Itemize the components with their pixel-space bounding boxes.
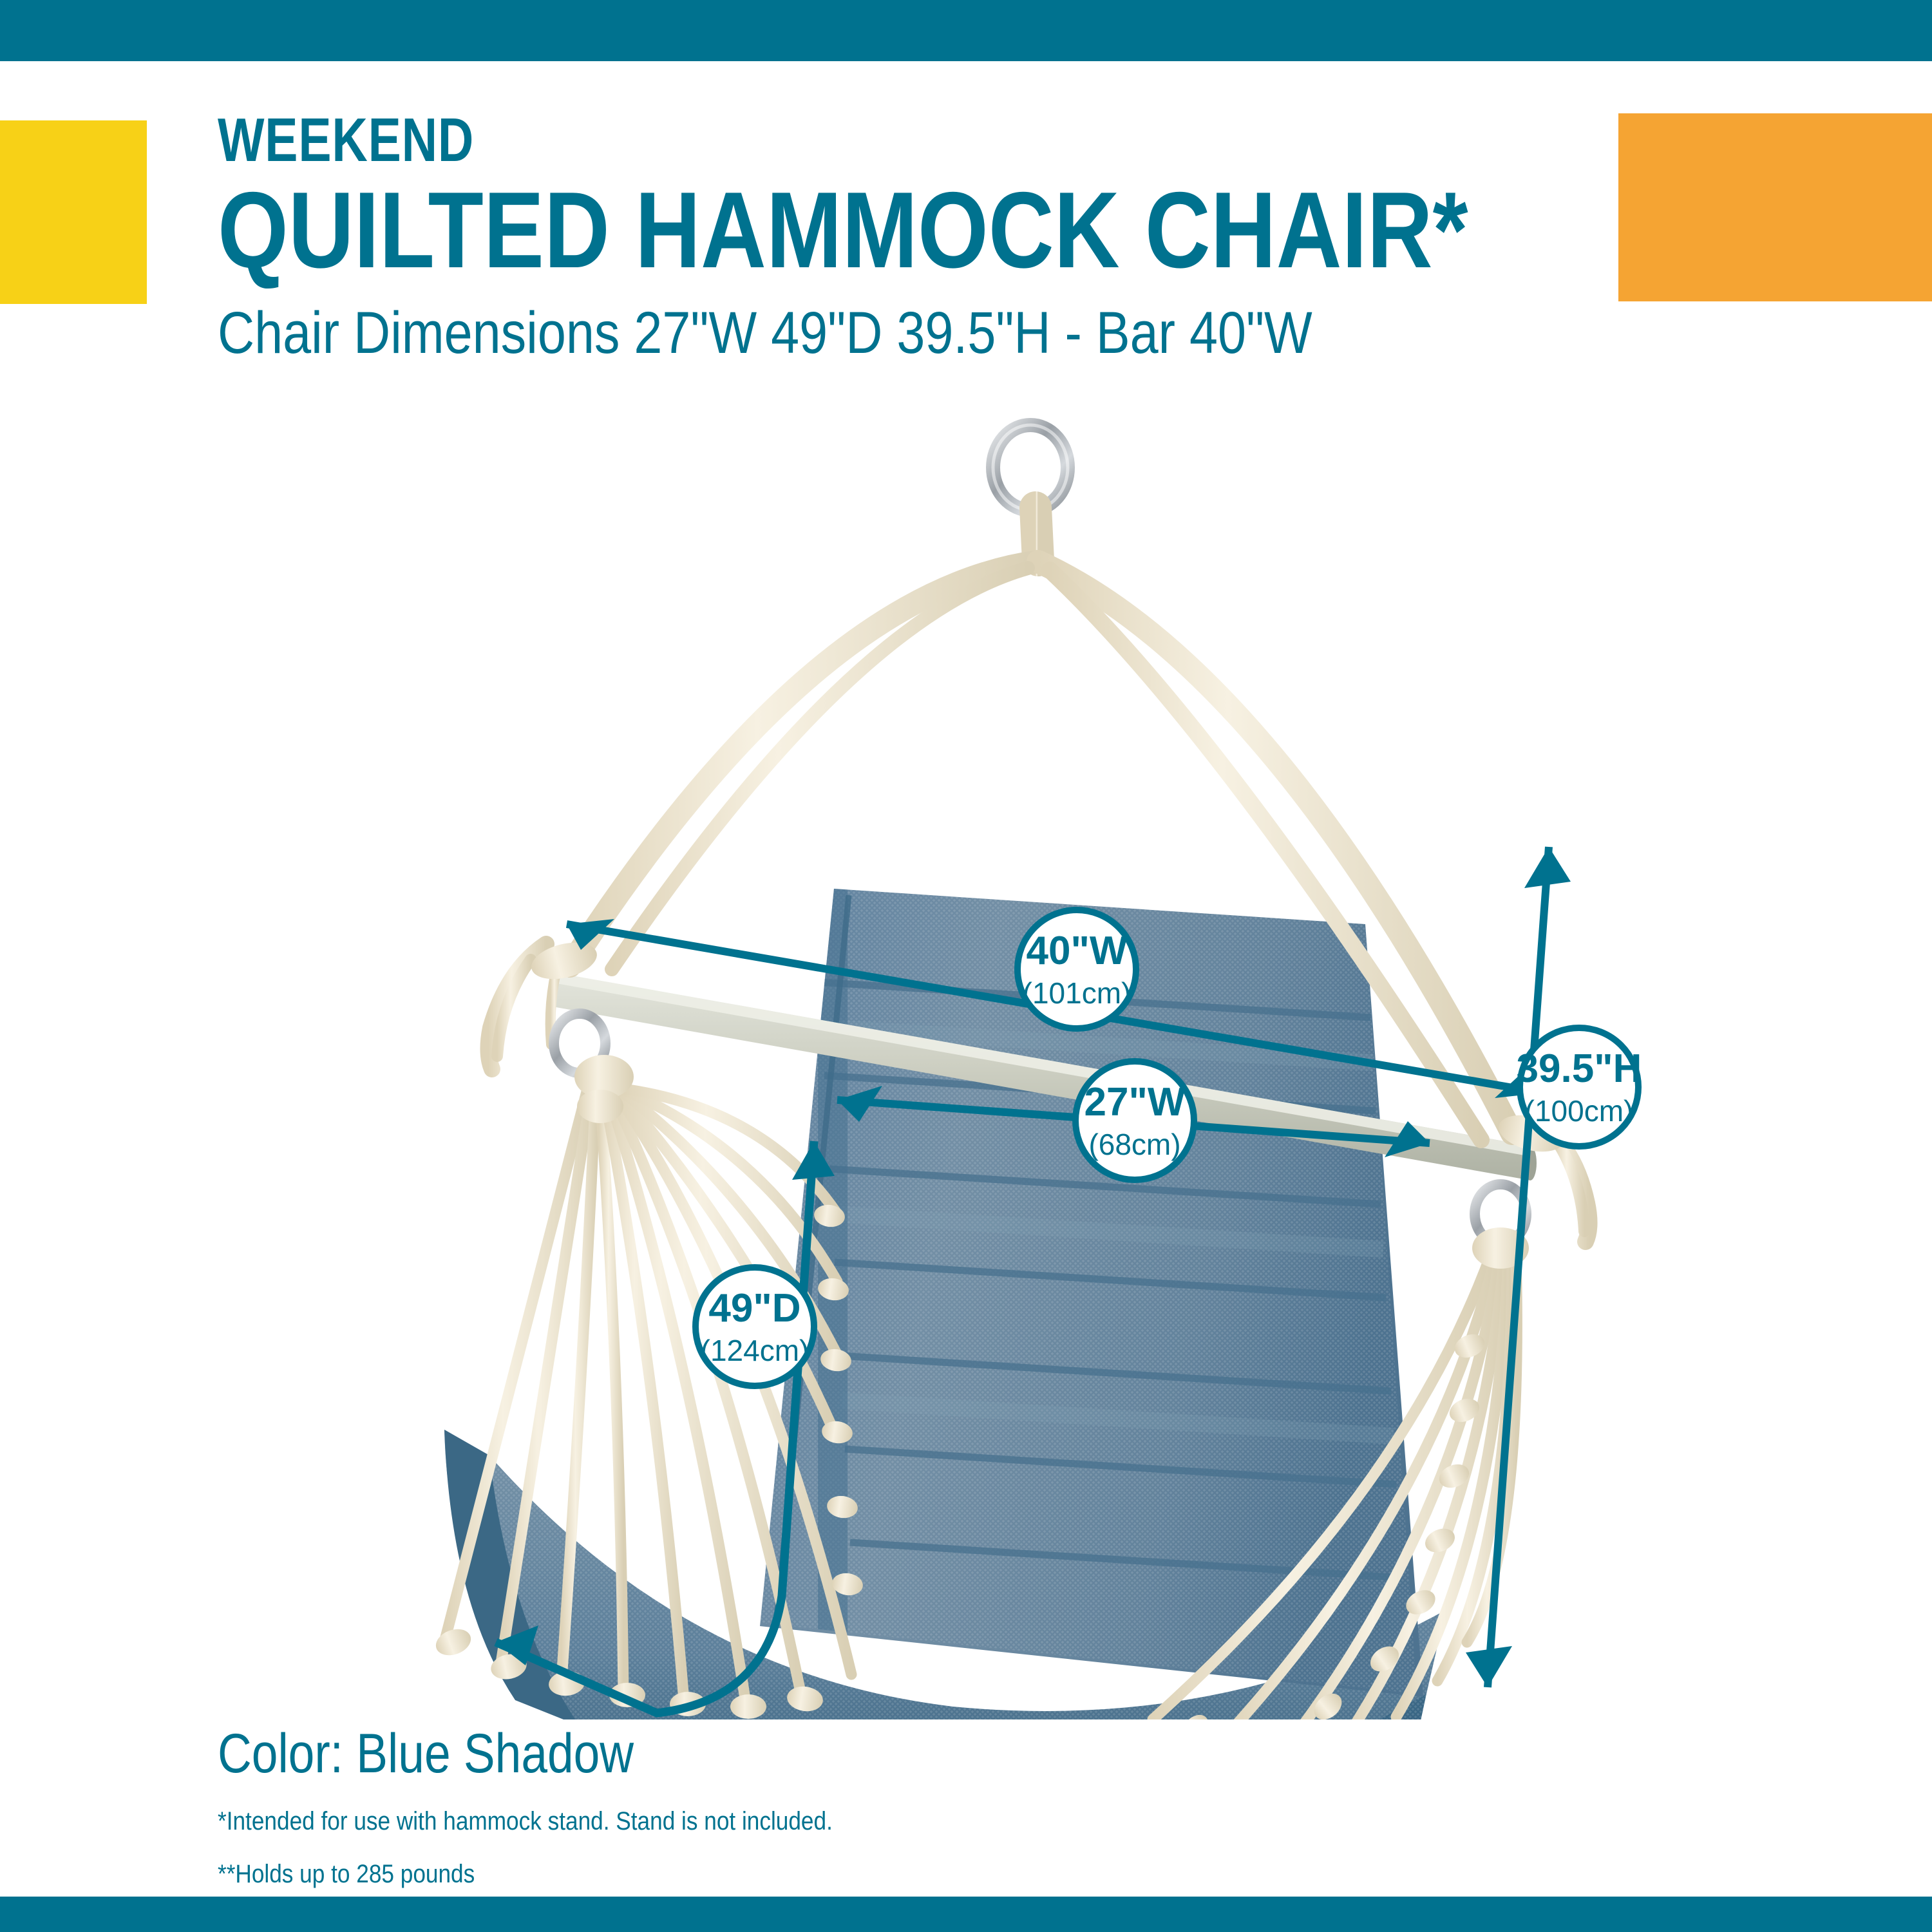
page-title: QUILTED HAMMOCK CHAIR* — [218, 175, 1408, 285]
dim-value-seat-depth: 49"D — [708, 1286, 800, 1331]
header-block: WEEKEND QUILTED HAMMOCK CHAIR* Chair Dim… — [218, 109, 1634, 365]
color-label: Color: Blue Shadow — [218, 1726, 1477, 1781]
dim-value-seat-width: 27"W — [1084, 1080, 1186, 1124]
dimension-badge-seat-height: 39.5"H (100cm) — [1517, 1028, 1642, 1146]
dim-value-seat-height: 39.5"H — [1517, 1046, 1642, 1091]
top-accent-band — [0, 0, 1932, 61]
dimension-badge-bar-width: 40"W (101cm) — [1018, 910, 1136, 1028]
product-diagram: 40"W (101cm) 27"W (68cm) 49"D (124cm) 39… — [0, 399, 1932, 1719]
orange-color-block — [1618, 113, 1932, 301]
dim-metric-seat-width: (68cm) — [1088, 1128, 1180, 1161]
footnote-stand: *Intended for use with hammock stand. St… — [218, 1808, 1521, 1834]
bottom-accent-band — [0, 1897, 1932, 1932]
product-kicker: WEEKEND — [218, 109, 1351, 171]
page-subtitle: Chair Dimensions 27"W 49"D 39.5"H - Bar … — [218, 302, 1436, 365]
dim-metric-seat-height: (100cm) — [1525, 1094, 1634, 1128]
dimension-badge-seat-depth: 49"D (124cm) — [696, 1267, 814, 1386]
footnote-weight: **Holds up to 285 pounds — [218, 1861, 1521, 1887]
yellow-color-block — [0, 120, 147, 304]
dimension-badge-seat-width: 27"W (68cm) — [1075, 1061, 1194, 1180]
dim-metric-seat-depth: (124cm) — [701, 1334, 810, 1367]
footer-block: Color: Blue Shadow *Intended for use wit… — [218, 1726, 1699, 1887]
dim-metric-bar-width: (101cm) — [1023, 976, 1132, 1010]
dim-value-bar-width: 40"W — [1027, 929, 1128, 973]
